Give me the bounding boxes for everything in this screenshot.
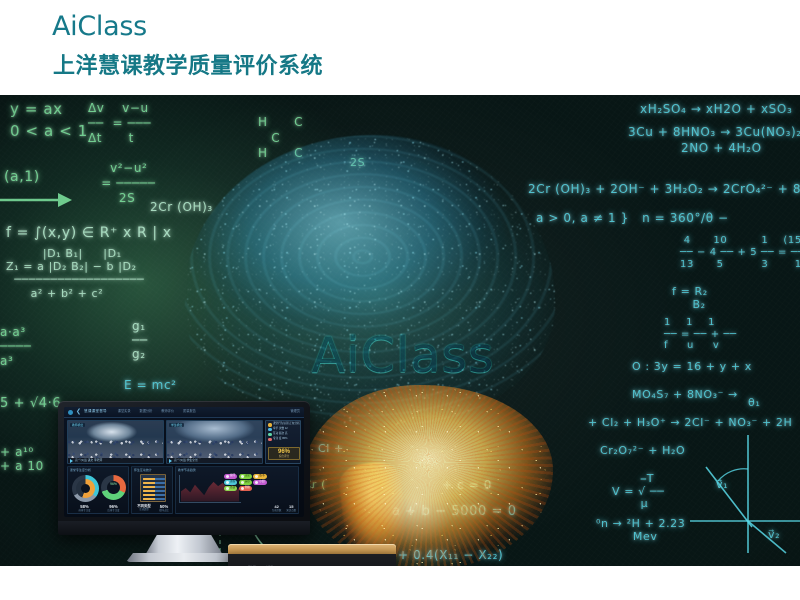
teacher-video-controls[interactable]: 高一(3)班 语文 李老师 <box>68 458 163 463</box>
ladder-rung <box>143 490 165 492</box>
student-video-controls[interactable]: 高一(3)班 学生全景 <box>167 458 262 463</box>
video-tile-student[interactable]: 学生机位 高一(3)班 学生全景 <box>166 420 263 464</box>
side-panel-label: 互动 频次 高 <box>273 433 287 436</box>
cerebellum-particles <box>303 385 553 566</box>
cerebellum-folds <box>303 385 553 566</box>
trend-badge[interactable]: 讨论 <box>239 474 252 479</box>
ladder-rung <box>143 486 165 488</box>
trend-right-metrics: 42 互动次数 15 知识点数 <box>272 505 296 512</box>
chalk-formula-f27: Cl + <box>318 441 344 457</box>
cerebellum <box>303 385 553 566</box>
teacher-video-label: 高一(3)班 语文 李老师 <box>75 459 102 462</box>
trend-card-title: 教学节奏趋势 <box>178 469 296 472</box>
chalk-formula-f2: (a,1) <box>4 167 40 187</box>
badge-dot-icon <box>241 481 244 484</box>
trend-badge-label: 测验 <box>245 487 250 490</box>
dashboard-charts-row: 课堂专注度分析 96% 58% 前排专注度 <box>67 466 301 514</box>
ladder-rung <box>143 482 165 484</box>
attention-metric: 96% 后排专注度 <box>108 505 120 512</box>
chalk-formula-f20: + Cl₂ + H₃O⁺ → 2Cl⁻ + NO₃⁻ + 2H <box>588 415 792 431</box>
overall-score-caption: 综合评分 <box>269 455 299 458</box>
student-video-students <box>167 433 262 459</box>
ladder-rung <box>143 494 165 496</box>
interaction-metric-label: 互动类型 <box>137 508 151 511</box>
chalk-formula-f8: g₁ ── g₂ <box>132 320 148 361</box>
chalk-formula-f32: + a¹⁰ + a 10 <box>0 445 44 474</box>
trend-badge-label: 讨论 <box>245 475 250 478</box>
page-root: AiClass 上洋慧课教学质量评价系统 y = ax 0 < a < 1 (a… <box>0 0 800 600</box>
side-panel-row: 互动 频次 高 <box>268 433 298 437</box>
monitor-bezel: ❮ 慧课课堂督导 课堂实录 数据分析 教师评价 质量报告 管理员 教师机 <box>58 401 310 535</box>
monitor-stand-foot <box>126 553 242 562</box>
chalk-formula-f6: a·a³ ──── a³ <box>0 325 31 368</box>
engagement-donut-label: 96% <box>101 483 126 486</box>
badge-dot-icon <box>226 481 229 484</box>
device-front-panel: PWR HDD AiClass <box>228 554 396 566</box>
monitor-screen: ❮ 慧课课堂督导 课堂实录 数据分析 教师评价 质量报告 管理员 教师机 <box>64 407 304 517</box>
tab-classroom-record[interactable]: 课堂实录 <box>118 410 131 413</box>
arrow-icon <box>0 191 74 209</box>
chalk-formula-f28: a + b − 5000 = 0 <box>392 503 517 522</box>
ladder-rung <box>143 478 165 480</box>
ok-icon <box>268 433 272 437</box>
interaction-metric: 50% 提问占比 <box>159 505 169 512</box>
attention-metrics: 58% 前排专注度 96% 后排专注度 <box>70 505 128 512</box>
trend-badge[interactable]: 讲授 <box>224 480 237 485</box>
trend-badge-label: 提问 <box>230 475 235 478</box>
chalk-formula-f18: O : 3y = 16 + y + x <box>632 359 752 375</box>
chalk-formula-f24: θ₁ <box>748 395 760 411</box>
attention-metric-label: 前排专注度 <box>79 509 91 512</box>
side-panel-label: 课堂行为识别 正在分析 <box>273 423 300 426</box>
chalk-formula-f3: Δv v−u ── = ─── Δt t v²−u² = ───── 2S <box>88 101 155 206</box>
dashboard-topbar: ❮ 慧课课堂督导 课堂实录 数据分析 教师评价 质量报告 管理员 <box>64 407 304 418</box>
dashboard-side-panel: 课堂行为识别 正在分析 举手 次数 12 互动 频次 高 <box>265 420 301 464</box>
teacher-video-students <box>68 433 163 459</box>
trend-metric-label: 互动次数 <box>272 509 282 512</box>
trend-badge[interactable]: 板书 <box>253 474 266 479</box>
trend-badge[interactable]: 小组 <box>253 480 266 485</box>
trend-badge-label: 小组 <box>259 481 264 484</box>
chalk-formula-f33: H C C H C <box>258 115 303 162</box>
cerebrum-folds <box>185 135 555 425</box>
chalk-formula-f4: f = ∫(x,y) ∈ R⁺ x R | x <box>6 223 172 243</box>
trend-metric: 42 互动次数 <box>272 505 282 512</box>
chalk-formula-f9: E = mc² <box>124 377 177 394</box>
cerebrum-particles-fine <box>185 135 555 425</box>
attention-donut-inner <box>76 479 95 498</box>
aiclass-device: PWR HDD AiClass <box>228 544 396 566</box>
chalk-formula-f21: Cr₂O₇²⁻ + H₂O <box>600 443 685 459</box>
cerebrum <box>185 135 555 425</box>
chalk-formula-f30: + 0.4(X₁₁ − X₂₂) <box>398 547 503 564</box>
attention-metric-label: 后排专注度 <box>108 509 120 512</box>
monitor-chin <box>58 521 310 535</box>
trend-metric-label: 知识点数 <box>286 509 296 512</box>
chalk-formula-f15: 4 10 1 (15X+4) ── − 4 ── + 5 ── = ──────… <box>680 235 800 271</box>
chalk-formula-f22: ⎯T V = √ ── μ <box>612 473 664 511</box>
trend-metric: 15 知识点数 <box>286 505 296 512</box>
trend-card: 教学节奏趋势 提问 讨论 板书 讲授 演示 小组 答 <box>175 466 299 514</box>
chalk-formula-f10: 2Cr (OH)₃ <box>150 199 213 216</box>
chalk-formula-f13: 2Cr (OH)₃ + 2OH⁻ + 3H₂O₂ → 2CrO₄²⁻ + 8H₂… <box>528 181 800 198</box>
trend-badge-label: 讲授 <box>230 481 235 484</box>
page-header: AiClass 上洋慧课教学质量评价系统 <box>0 0 800 95</box>
side-panel-label: 专注 度 86% <box>273 438 287 441</box>
side-panel-row: 课堂行为识别 正在分析 <box>268 423 298 427</box>
play-icon[interactable] <box>70 459 73 463</box>
attention-card: 课堂专注度分析 96% 58% 前排专注度 <box>67 466 129 514</box>
side-panel-row: 举手 次数 12 <box>268 428 298 432</box>
side-panel-row: 专注 度 86% <box>268 438 298 442</box>
teacher-video-tag: 教师机位 <box>70 423 85 427</box>
home-icon[interactable] <box>68 410 73 415</box>
trend-badge[interactable]: 提问 <box>224 474 237 479</box>
chalk-formula-f7: 5 + √4·6 <box>0 395 61 414</box>
brain-wordmark: AiClass <box>253 327 553 384</box>
brand-subtitle: 上洋慧课教学质量评价系统 <box>53 48 323 80</box>
side-panel-label: 举手 次数 12 <box>273 428 288 431</box>
chalk-formula-f5: |D₁ B₁| |D₁ Z₁ = a |D₂ B₂| − b |D₂ ─────… <box>6 247 144 300</box>
hero-image: y = ax 0 < a < 1 (a,1) Δv v−u ── = ─── Δ… <box>0 95 800 566</box>
interaction-metric-label: 提问占比 <box>159 509 169 512</box>
chalk-formula-f1: y = ax 0 < a < 1 <box>10 99 88 143</box>
back-chevron-icon[interactable]: ❮ <box>76 409 81 415</box>
tab-data-analysis[interactable]: 数据分析 <box>140 410 153 413</box>
trend-badge-label: 演示 <box>245 481 250 484</box>
bottom-white-strip <box>0 566 800 600</box>
play-icon[interactable] <box>169 459 172 463</box>
chalk-formula-f34: 2S <box>350 155 365 171</box>
interaction-ladder-chart <box>140 474 166 502</box>
cerebrum-particles <box>185 135 555 425</box>
trend-badge[interactable]: 答疑 <box>224 486 237 491</box>
warning-icon <box>268 423 272 427</box>
badge-dot-icon <box>226 475 229 478</box>
engagement-donut <box>101 475 126 500</box>
display-monitor: ❮ 慧课课堂督导 课堂实录 数据分析 教师评价 质量报告 管理员 教师机 <box>58 401 310 556</box>
vector-diagram-icon <box>690 435 800 560</box>
interaction-metric: 不同类型 互动类型 <box>137 505 151 512</box>
attention-card-title: 课堂专注度分析 <box>70 469 126 472</box>
student-video-label: 高一(3)班 学生全景 <box>174 459 198 462</box>
chalk-formula-f19: MO₄S₇ + 8NO₃⁻ → <box>632 387 738 403</box>
chalk-formula-f11: xH₂SO₄ → xH2O + xSO₃ <box>640 101 792 118</box>
video-tile-teacher[interactable]: 教师机位 高一(3)班 语文 李老师 <box>67 420 164 464</box>
chalk-formula-f29: + c = 0 <box>442 477 492 494</box>
badge-dot-icon <box>241 487 244 490</box>
chalk-formula-f17: 1 1 1 ── = ── + ── f u v <box>664 317 737 352</box>
chalk-formula-f14: a > 0, a ≠ 1 } n = 360°/θ − <box>536 210 729 227</box>
trend-badge-label: 板书 <box>259 475 264 478</box>
badge-dot-icon <box>255 481 258 484</box>
chalk-formula-f23: ⁰n → ²H + 2.23 Mev <box>596 517 685 543</box>
student-video-tag: 学生机位 <box>169 423 184 427</box>
tab-quality-report[interactable]: 质量报告 <box>183 410 196 413</box>
dashboard-title: 慧课课堂督导 <box>84 410 107 414</box>
overall-score-badge: 96% 综合评分 <box>268 447 300 460</box>
badge-dot-icon <box>241 475 244 478</box>
brand-title: AiClass <box>52 11 147 42</box>
interaction-card-title: 师生互动统计 <box>134 469 170 472</box>
alert-icon <box>268 438 272 442</box>
trend-badge-grid: 提问 讨论 板书 讲授 演示 小组 答疑 测验 <box>224 474 276 491</box>
info-icon <box>268 428 272 432</box>
interaction-card: 师生互动统计 不同类型 <box>131 466 173 514</box>
badge-dot-icon <box>226 487 229 490</box>
dashboard-video-row: 教师机位 高一(3)班 语文 李老师 学生机位 <box>67 420 301 464</box>
interaction-metrics: 不同类型 互动类型 50% 提问占比 <box>133 505 173 512</box>
attention-metric: 58% 前排专注度 <box>79 505 91 512</box>
trend-badge[interactable]: 演示 <box>239 480 252 485</box>
trend-badge[interactable]: 测验 <box>239 486 252 491</box>
chalk-formula-f16: f = R₂ B₂ <box>672 285 708 311</box>
ladder-rung <box>143 498 165 500</box>
chalk-formula-f12: 3Cu + 8HNO₃ → 3Cu(NO₃)₂ + 2NO + 4H₂O <box>628 125 800 156</box>
badge-dot-icon <box>255 475 258 478</box>
tab-teacher-eval[interactable]: 教师评价 <box>161 410 174 413</box>
topbar-user[interactable]: 管理员 <box>290 410 300 413</box>
trend-badge-label: 答疑 <box>230 487 235 490</box>
